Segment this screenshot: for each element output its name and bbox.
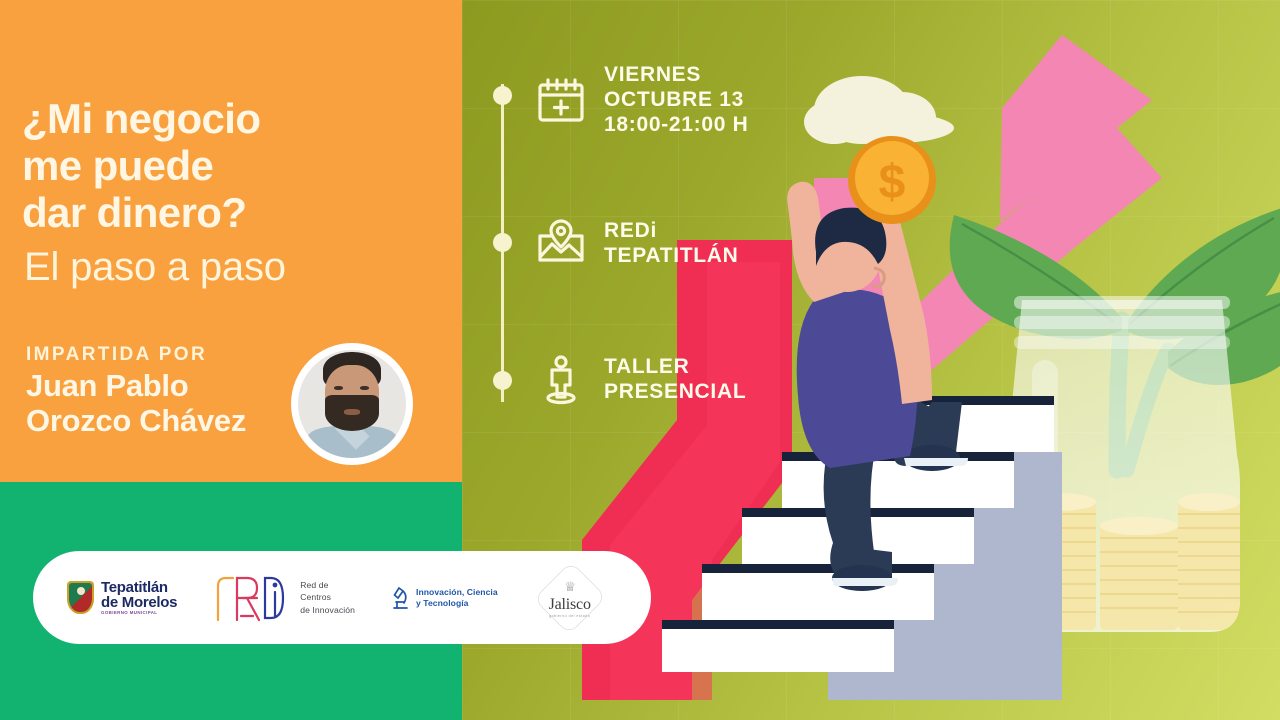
calendar-icon (535, 74, 587, 126)
redi-line-1: Red de (300, 579, 355, 591)
headline-line-2: me puede (22, 142, 442, 189)
logo-ict-text: Innovación, Ciencia y Tecnología (416, 587, 498, 608)
tepatitlan-line-2: de Morelos (101, 595, 177, 610)
coat-of-arms-icon (67, 581, 94, 614)
speaker-name-line-1: Juan Pablo (26, 368, 326, 403)
detail-row-format: TALLER PRESENCIAL (487, 349, 817, 409)
format-line2: PRESENCIAL (604, 379, 746, 404)
redi-line-2: Centros (300, 591, 355, 603)
jalisco-sub: gobierno del estado (549, 614, 591, 618)
date-weekday: VIERNES (604, 62, 749, 87)
detail-row-format-text: TALLER PRESENCIAL (604, 354, 746, 404)
format-line1: TALLER (604, 354, 746, 379)
speaker-eyebrow: IMPARTIDA POR (26, 342, 326, 368)
redi-mark-icon (213, 572, 291, 624)
timeline-dot (493, 86, 512, 105)
avatar-photo (298, 350, 406, 458)
logo-innovacion-ciencia-tecnologia: Innovación, Ciencia y Tecnología (391, 585, 498, 611)
microscope-icon (391, 585, 410, 611)
jalisco-name: Jalisco (549, 596, 591, 614)
speaker-name-line-2: Orozco Chávez (26, 403, 326, 438)
timeline-dot (493, 371, 512, 390)
detail-row-location: REDi TEPATITLÁN (487, 213, 817, 273)
location-city: TEPATITLÁN (604, 243, 739, 268)
gold-coin: $ (848, 136, 936, 224)
avatar (291, 343, 413, 465)
svg-text:$: $ (879, 156, 906, 209)
avatar-mouth (344, 409, 359, 414)
avatar-eye-right (360, 386, 370, 390)
crown-icon: ♕ (564, 579, 575, 594)
date-day: OCTUBRE 13 (604, 87, 749, 112)
date-time: 18:00-21:00 H (604, 112, 749, 137)
headline-line-1: ¿Mi negocio (22, 95, 442, 142)
map-location-icon (535, 217, 587, 269)
event-poster: $ VIERNES OCTUBRE 13 18:00-21:00 H (0, 0, 1280, 720)
subtitle: El paso a paso (24, 245, 286, 289)
sponsor-logo-bar: Tepatitlán de Morelos GOBIERNO MUNICIPAL (33, 551, 651, 644)
logo-tepatitlan: Tepatitlán de Morelos GOBIERNO MUNICIPAL (67, 580, 177, 615)
tepatitlan-line-3: GOBIERNO MUNICIPAL (101, 611, 177, 615)
redi-line-3: de Innovación (300, 604, 355, 616)
ict-line-2: y Tecnología (416, 598, 498, 608)
event-details-list: VIERNES OCTUBRE 13 18:00-21:00 H REDi TE… (487, 62, 817, 409)
cloud-shape (804, 76, 954, 144)
avatar-eye-left (334, 386, 344, 390)
logo-tepatitlan-text: Tepatitlán de Morelos GOBIERNO MUNICIPAL (101, 580, 177, 615)
timeline-dot (493, 233, 512, 252)
headline-line-3: dar dinero? (22, 189, 442, 236)
logo-redi: Red de Centros de Innovación (213, 572, 355, 624)
logo-jalisco-text: ♕ Jalisco gobierno del estado (549, 578, 591, 618)
page-title: ¿Mi negocio me puede dar dinero? (22, 95, 442, 236)
detail-row-date-text: VIERNES OCTUBRE 13 18:00-21:00 H (604, 62, 749, 137)
location-name: REDi (604, 218, 739, 243)
ict-line-1: Innovación, Ciencia (416, 587, 498, 597)
detail-row-location-text: REDi TEPATITLÁN (604, 218, 739, 268)
tepatitlan-line-1: Tepatitlán (101, 580, 177, 595)
person-standing-icon (535, 353, 587, 405)
logo-jalisco: ♕ Jalisco gobierno del estado (534, 560, 606, 636)
detail-row-date: VIERNES OCTUBRE 13 18:00-21:00 H (487, 62, 817, 137)
logo-redi-text: Red de Centros de Innovación (300, 579, 355, 616)
speaker-block: IMPARTIDA POR Juan Pablo Orozco Chávez (26, 342, 326, 438)
